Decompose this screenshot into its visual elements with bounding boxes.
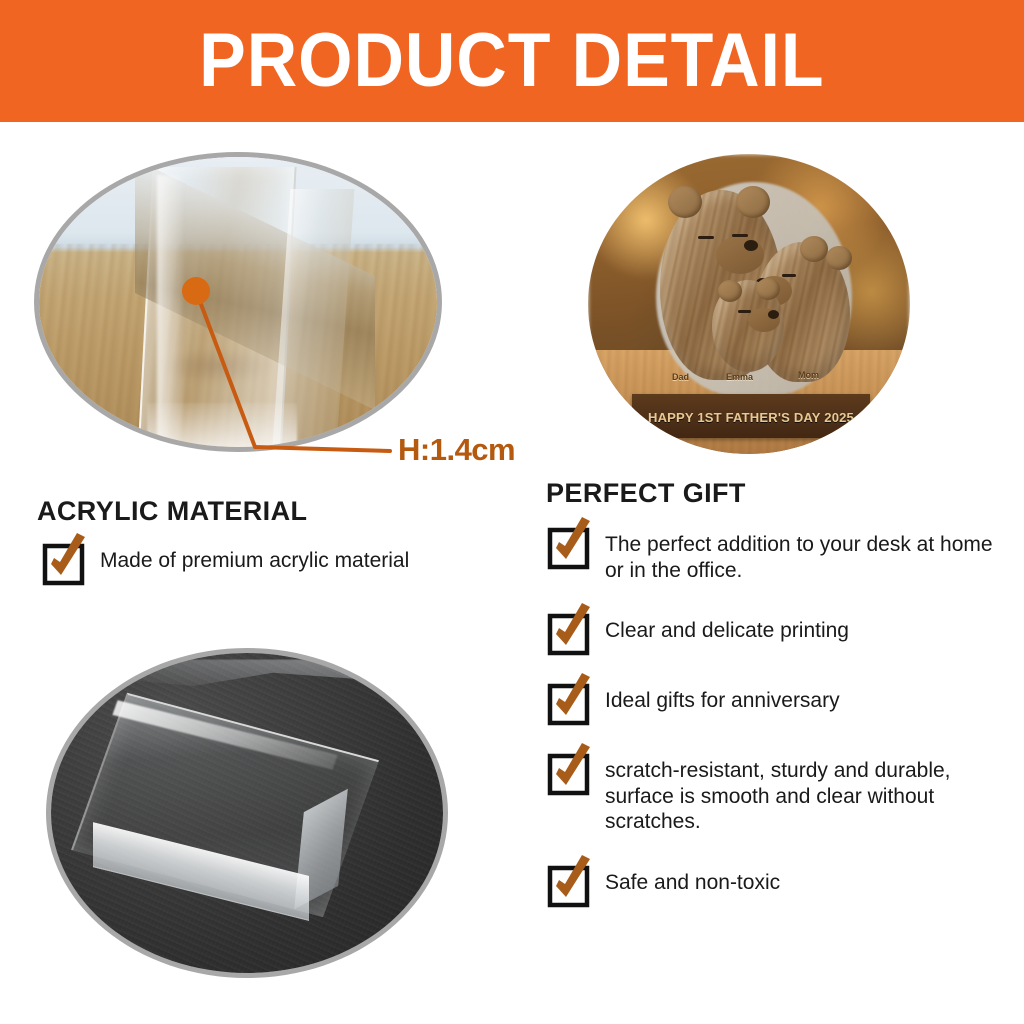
- list-item: Safe and non-toxic: [549, 865, 1004, 905]
- bear-dad-nose: [744, 240, 758, 251]
- checkbox-checked-icon: [549, 529, 587, 567]
- list-item-text: Made of premium acrylic material: [100, 543, 409, 574]
- list-item-text: Safe and non-toxic: [605, 865, 780, 896]
- list-item: The perfect addition to your desk at hom…: [549, 527, 1004, 583]
- bear-dad-eye-right: [732, 234, 748, 237]
- bear-name-mom: Mom: [798, 370, 819, 380]
- bear-mom-ear-right: [826, 246, 852, 270]
- list-item: Clear and delicate printing: [549, 613, 1004, 653]
- checkbox-checked-icon: [549, 615, 587, 653]
- photo-bear-family-figurine: Dad Emma Mom HAPPY 1ST FATHER'S DAY 2025: [588, 154, 910, 454]
- acrylic-base-glow: [147, 403, 297, 447]
- photo-acrylic-block-content: [51, 653, 443, 973]
- photo-acrylic-edge-content: [39, 157, 437, 447]
- bear-baby-emma: [712, 280, 784, 372]
- bear-family-carving: Dad Emma Mom: [650, 176, 850, 406]
- checklist-perfect-gift: The perfect addition to your desk at hom…: [549, 527, 1004, 935]
- checkbox-checked-icon: [549, 867, 587, 905]
- checkbox-checked-icon: [44, 545, 82, 583]
- bear-baby-eye: [738, 310, 751, 313]
- photo-bear-content: Dad Emma Mom HAPPY 1ST FATHER'S DAY 2025: [588, 154, 910, 454]
- bear-baby-ear-right: [756, 278, 780, 300]
- list-item-text: Ideal gifts for anniversary: [605, 683, 840, 714]
- list-item: Ideal gifts for anniversary: [549, 683, 1004, 723]
- heading-perfect-gift: PERFECT GIFT: [546, 478, 746, 509]
- bear-dad-eye-left: [698, 236, 714, 239]
- plaque-base-text: HAPPY 1ST FATHER'S DAY 2025: [632, 410, 870, 425]
- checklist-acrylic-material: Made of premium acrylic material: [44, 543, 514, 609]
- bear-name-dad: Dad: [672, 372, 689, 382]
- bear-baby-ear-left: [718, 280, 742, 302]
- bear-dad-ear-left: [668, 186, 702, 218]
- bear-mom-eye: [782, 274, 796, 277]
- bear-baby-nose: [768, 310, 779, 319]
- dimension-label: H:1.4cm: [398, 432, 515, 468]
- page-title: PRODUCT DETAIL: [199, 23, 824, 99]
- product-detail-page: PRODUCT DETAIL H:1.4cm: [0, 0, 1024, 1024]
- header-banner: PRODUCT DETAIL: [0, 0, 1024, 122]
- bear-mom-ear-left: [800, 236, 828, 262]
- plaque-base: HAPPY 1ST FATHER'S DAY 2025: [632, 394, 870, 438]
- list-item-text: The perfect addition to your desk at hom…: [605, 527, 1004, 583]
- list-item: Made of premium acrylic material: [44, 543, 514, 583]
- list-item-text: Clear and delicate printing: [605, 613, 849, 644]
- photo-acrylic-block-on-slate: [46, 648, 448, 978]
- list-item-text: scratch-resistant, sturdy and durable, s…: [605, 753, 1004, 835]
- bear-dad-ear-right: [736, 186, 770, 218]
- list-item: scratch-resistant, sturdy and durable, s…: [549, 753, 1004, 835]
- photo-acrylic-edge-on-wood: [34, 152, 442, 452]
- checkbox-checked-icon: [549, 685, 587, 723]
- checkbox-checked-icon: [549, 755, 587, 793]
- bear-name-emma: Emma: [726, 372, 753, 382]
- heading-acrylic-material: ACRYLIC MATERIAL: [37, 496, 307, 527]
